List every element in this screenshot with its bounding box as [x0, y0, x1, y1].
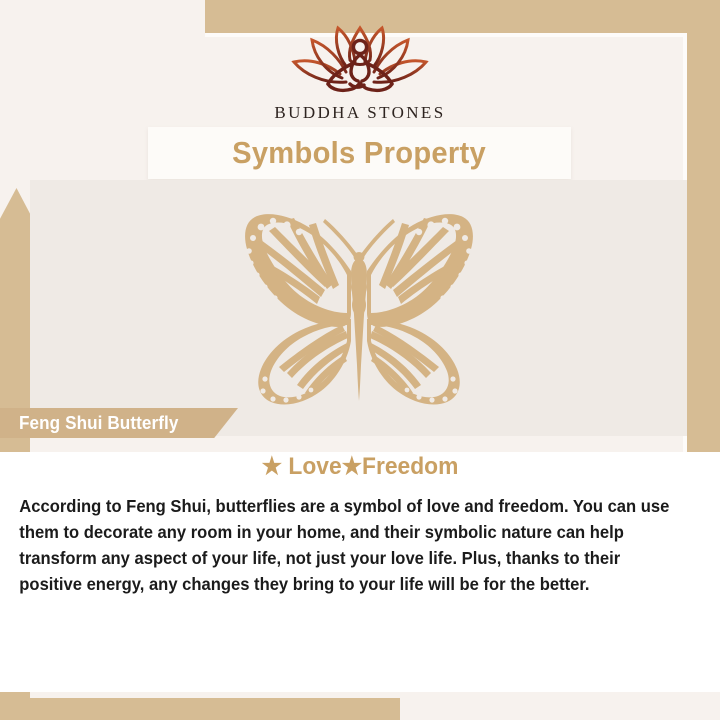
content-section: ★ Love★Freedom According to Feng Shui, b… — [0, 452, 720, 598]
monarch-butterfly-icon — [199, 201, 519, 416]
brand-header: BUDDHA STONES — [0, 0, 720, 127]
feng-shui-tag-label: Feng Shui Butterfly — [19, 413, 179, 434]
page-root: BUDDHA STONES Symbols Property — [0, 0, 720, 720]
page-title: Symbols Property — [233, 135, 487, 171]
decorative-frame-bottom — [0, 698, 400, 720]
brand-name: BUDDHA STONES — [274, 103, 445, 123]
title-band: Symbols Property — [148, 127, 571, 179]
lotus-meditation-icon — [284, 22, 436, 99]
butterfly-panel — [30, 180, 687, 436]
content-subheading: ★ Love★Freedom — [18, 452, 702, 481]
content-paragraph: According to Feng Shui, butterflies are … — [0, 493, 695, 598]
feng-shui-tag: Feng Shui Butterfly — [0, 408, 238, 438]
